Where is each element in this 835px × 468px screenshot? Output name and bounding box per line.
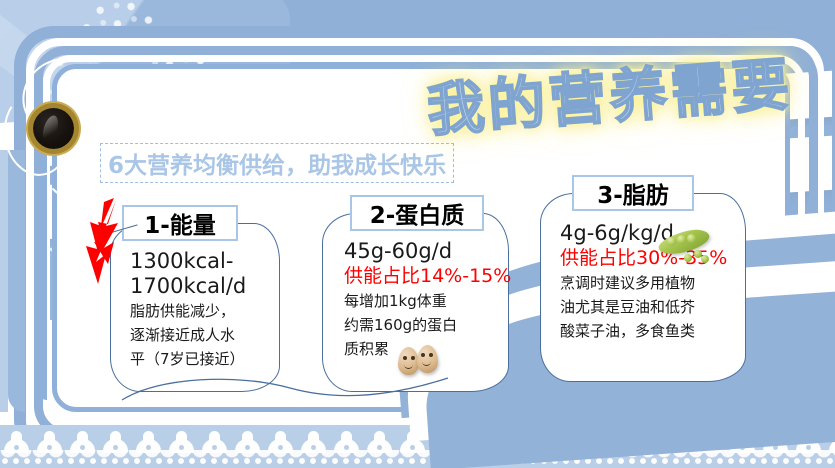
- card-highlight-value: 供能占比14%-15%: [344, 265, 507, 289]
- pea-loose-shape: [701, 255, 709, 263]
- eggs-illustration-icon: [398, 343, 444, 377]
- card-primary-value: 45g-60g/d: [344, 239, 507, 264]
- card-note-line: 每增加1kg体重: [344, 289, 507, 313]
- card-note-line: 逐渐接近成人水: [130, 323, 278, 347]
- subtitle-banner: 6大营养均衡供给，助我成长快乐: [100, 143, 454, 183]
- card-heading-box: 3-脂肪: [572, 175, 694, 211]
- card-note-line: 烹调时建议多用植物: [560, 271, 744, 295]
- lace-crown-motif: [165, 427, 198, 453]
- ribbon-seal-icon: [33, 108, 74, 149]
- card-note-line: 油尤其是豆油和低芥: [560, 295, 744, 319]
- nutrition-card-energy[interactable]: 1-能量 1300kcal- 1700kcal/d 脂肪供能减少， 逐渐接近成人…: [110, 205, 278, 390]
- card-heading-label: 3-脂肪: [597, 176, 669, 210]
- card-heading-box: 1-能量: [122, 205, 238, 241]
- lace-crown-motif: [66, 427, 99, 453]
- card-note-line: 约需160g的蛋白: [344, 313, 507, 337]
- left-bar-light: [0, 150, 8, 412]
- egg-shape: [417, 345, 438, 373]
- left-bar-inner: [38, 150, 47, 400]
- left-bar-blue: [8, 150, 25, 412]
- lace-crown-motif: [330, 427, 363, 453]
- lace-crown-motif: [198, 427, 231, 453]
- lace-crown-motif: [231, 427, 264, 453]
- lace-crown-motif: [33, 427, 66, 453]
- card-primary-value-2: 1700kcal/d: [130, 274, 278, 299]
- card-heading-box: 2-蛋白质: [350, 195, 484, 231]
- lace-crown-motif: [297, 427, 330, 453]
- red-bolt-arrow-icon: [84, 196, 126, 286]
- slide-canvas: 我的营养需要 6大营养均衡供给，助我成长快乐 1-能量 1300kcal- 17…: [0, 0, 835, 468]
- lace-crown-motif: [363, 427, 396, 453]
- card-note-line: 酸菜子油，多食鱼类: [560, 319, 744, 343]
- nutrition-card-fat[interactable]: 3-脂肪 4g-6g/kg/d 供能占比30%-35% 烹调时建议多用植物 油尤…: [540, 175, 744, 380]
- pea-pod-illustration-icon: [658, 228, 724, 268]
- egg-shape: [398, 347, 419, 375]
- pea-shape: [687, 234, 696, 243]
- card-heading-label: 1-能量: [144, 206, 216, 240]
- card-primary-value: 1300kcal-: [130, 249, 278, 274]
- lace-crown-motif: [264, 427, 297, 453]
- pea-shape: [667, 237, 676, 246]
- pea-loose-shape: [684, 254, 692, 262]
- card-heading-label: 2-蛋白质: [370, 196, 465, 230]
- lace-crown-motif: [132, 427, 165, 453]
- lace-crown-motif: [0, 427, 33, 453]
- card-note-line: 脂肪供能减少，: [130, 299, 278, 323]
- lace-crown-motif: [99, 427, 132, 453]
- pea-shape: [677, 235, 686, 244]
- card-note-line: 平（7岁已接近）: [130, 347, 278, 371]
